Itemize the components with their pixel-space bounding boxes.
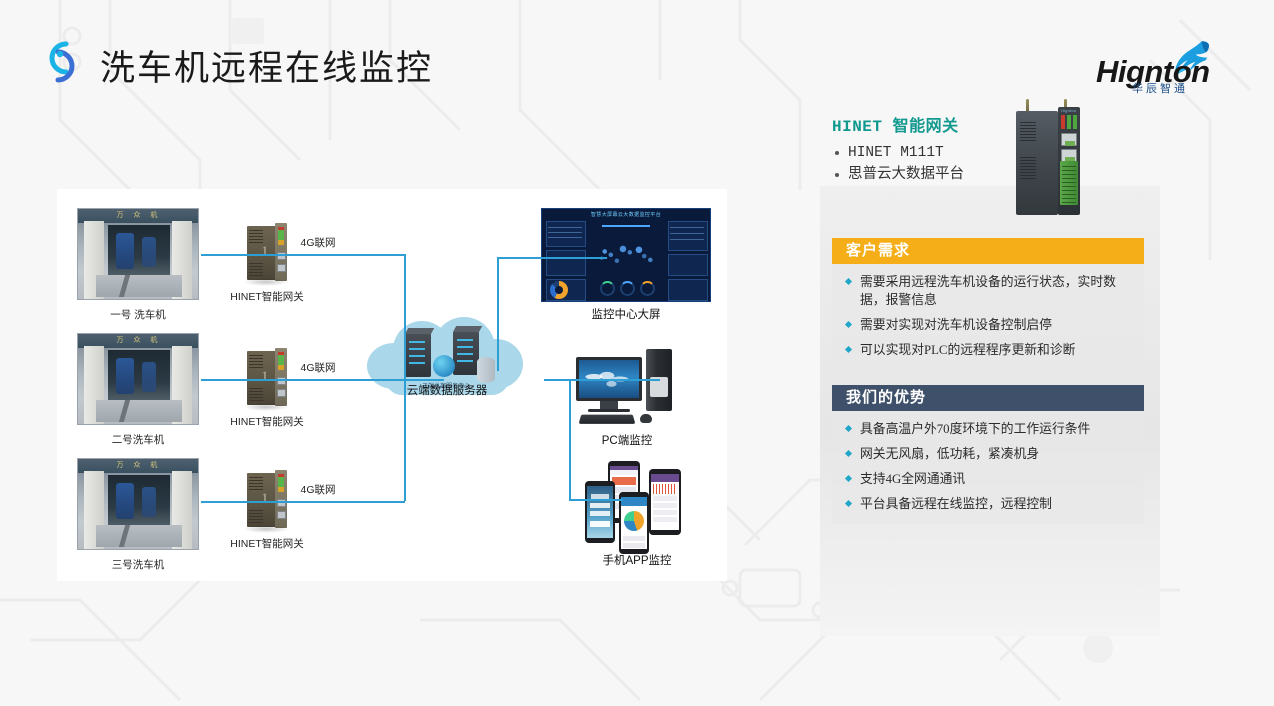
customer-needs-list: 需要采用远程洗车机设备的运行状态，实时数据，报警信息 需要对实现对洗车机设备控制… xyxy=(842,273,1134,360)
link-line xyxy=(544,379,660,381)
gateway-info-section: HINET 智能网关 HINET M111T 思普云大数据平台 xyxy=(832,112,1144,224)
link-line xyxy=(404,379,444,381)
our-advantages-item: 网关无风扇，低功耗，紧凑机身 xyxy=(842,445,1134,463)
database-icon xyxy=(477,357,495,383)
link-line xyxy=(257,379,405,381)
link-line xyxy=(497,311,499,371)
brand-logo: Hignton 华辰智通 xyxy=(1090,22,1250,100)
dashboard-screen-title: 智慧大屏幕云大数据监控平台 xyxy=(542,211,710,218)
gateway-device-icon: 1 xyxy=(245,469,289,531)
endpoint-label: PC端监控 xyxy=(567,432,687,448)
customer-needs-heading: 客户需求 xyxy=(832,238,1144,264)
our-advantages-list: 具备高温户外70度环境下的工作运行条件 网关无风扇，低功耗，紧凑机身 支持4G全… xyxy=(842,420,1134,514)
page-title: 洗车机远程在线监控 xyxy=(100,40,433,91)
customer-needs-item: 可以实现对PLC的远程程序更新和诊断 xyxy=(842,341,1134,359)
machine-sign-text: 万 众 机 xyxy=(112,460,166,471)
machine-label: 二号洗车机 xyxy=(77,432,199,447)
link-line xyxy=(257,254,405,256)
machine-sign-text: 万 众 机 xyxy=(112,210,166,221)
gateway-label: HINET智能网关 xyxy=(217,536,317,551)
hignton-circle-logo-icon xyxy=(36,36,88,88)
machine-photo: 万 众 机 xyxy=(77,458,199,550)
customer-needs-item: 需要对实现对洗车机设备控制启停 xyxy=(842,316,1134,334)
link-label: 4G联网 xyxy=(293,235,343,250)
architecture-diagram-card: 万 众 机 一号 洗车机 1 HINET智能网关 4G联网 万 众 机 xyxy=(57,189,727,581)
machine-sign-text: 万 众 机 xyxy=(112,335,166,346)
link-line xyxy=(569,499,623,501)
link-label: 4G联网 xyxy=(293,360,343,375)
machine-label: 一号 洗车机 xyxy=(77,307,199,322)
customer-needs-box: 客户需求 需要采用远程洗车机设备的运行状态，实时数据，报警信息 需要对实现对洗车… xyxy=(832,238,1144,371)
link-line xyxy=(404,379,406,501)
link-line xyxy=(404,254,406,379)
endpoint-label: 监控中心大屏 xyxy=(541,306,711,322)
customer-needs-body: 需要采用远程洗车机设备的运行状态，实时数据，报警信息 需要对实现对洗车机设备控制… xyxy=(832,264,1144,371)
link-line xyxy=(497,257,607,259)
our-advantages-item: 支持4G全网通通讯 xyxy=(842,470,1134,488)
link-label: 4G联网 xyxy=(293,482,343,497)
device-brand-text: Hignton xyxy=(1061,108,1076,113)
our-advantages-body: 具备高温户外70度环境下的工作运行条件 网关无风扇，低功耗，紧凑机身 支持4G全… xyxy=(832,411,1144,525)
cloud-label: 云端数据服务器 xyxy=(377,382,517,398)
our-advantages-item: 具备高温户外70度环境下的工作运行条件 xyxy=(842,420,1134,438)
machine-photo: 万 众 机 xyxy=(77,333,199,425)
customer-needs-item: 需要采用远程洗车机设备的运行状态，实时数据，报警信息 xyxy=(842,273,1134,309)
our-advantages-item: 平台具备远程在线监控，远程控制 xyxy=(842,495,1134,513)
gateway-label: HINET智能网关 xyxy=(217,414,317,429)
right-content-column: HINET 智能网关 HINET M111T 思普云大数据平台 客户需求 需要采… xyxy=(832,112,1144,524)
our-advantages-heading: 我们的优势 xyxy=(832,385,1144,411)
gateway-label: HINET智能网关 xyxy=(217,289,317,304)
hinet-gateway-device-image: Hignton xyxy=(1012,99,1088,221)
gateway-spec-item: HINET M111T xyxy=(832,142,1144,164)
machine-photo: 万 众 机 xyxy=(77,208,199,300)
endpoint-label: 手机APP监控 xyxy=(567,552,707,568)
gateway-spec-item: 思普云大数据平台 xyxy=(832,164,1144,186)
gateway-spec-list: HINET M111T 思普云大数据平台 xyxy=(832,142,1144,187)
gateway-device-icon: 1 xyxy=(245,222,289,284)
slide-root: 洗车机远程在线监控 Hignton 华辰智通 xyxy=(0,0,1274,706)
brand-sub-text: 华辰智通 xyxy=(1132,80,1188,96)
our-advantages-box: 我们的优势 具备高温户外70度环境下的工作运行条件 网关无风扇，低功耗，紧凑机身… xyxy=(832,385,1144,525)
link-line xyxy=(569,379,571,499)
globe-icon xyxy=(433,355,455,377)
server-icon xyxy=(405,333,431,377)
dashboard-screen-icon: 智慧大屏幕云大数据监控平台 xyxy=(541,208,711,302)
link-line xyxy=(497,257,499,313)
server-icon xyxy=(453,331,479,375)
link-line xyxy=(257,501,405,503)
gateway-device-icon: 1 xyxy=(245,347,289,409)
gateway-section-title: HINET 智能网关 xyxy=(832,112,1144,136)
machine-label: 三号洗车机 xyxy=(77,557,199,572)
page-header: 洗车机远程在线监控 Hignton 华辰智通 xyxy=(0,0,1274,110)
